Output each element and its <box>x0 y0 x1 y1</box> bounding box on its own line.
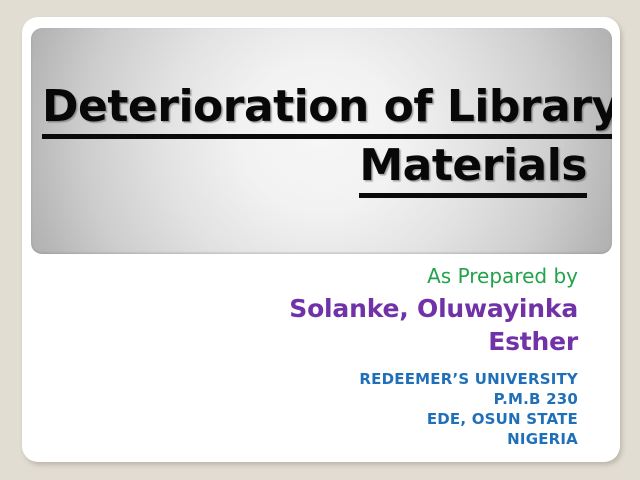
prepared-by-label: As Prepared by <box>58 263 578 289</box>
title-panel: Deterioration of Library Materials <box>31 28 612 254</box>
affiliation-line-city: EDE, OSUN STATE <box>58 409 578 429</box>
title-line-1: Deterioration of Library <box>42 80 587 139</box>
affiliation-line-university: REDEEMER’S UNIVERSITY <box>58 369 578 389</box>
title-line-1-text: Deterioration of Library <box>42 80 612 139</box>
subtitle-block: As Prepared by Solanke, Oluwayinka Esthe… <box>58 263 578 449</box>
title-line-2-text: Materials <box>359 139 587 198</box>
affiliation-block: REDEEMER’S UNIVERSITY P.M.B 230 EDE, OSU… <box>58 369 578 449</box>
title-line-2: Materials <box>42 139 587 198</box>
slide-card: Deterioration of Library Materials As Pr… <box>22 17 620 462</box>
affiliation-line-pmb: P.M.B 230 <box>58 389 578 409</box>
author-name: Solanke, Oluwayinka Esther <box>58 292 578 358</box>
slide-canvas: Deterioration of Library Materials As Pr… <box>0 0 640 480</box>
author-name-line-2: Esther <box>58 325 578 358</box>
affiliation-line-country: NIGERIA <box>58 429 578 449</box>
author-name-line-1: Solanke, Oluwayinka <box>58 292 578 325</box>
page-title: Deterioration of Library Materials <box>42 80 587 198</box>
